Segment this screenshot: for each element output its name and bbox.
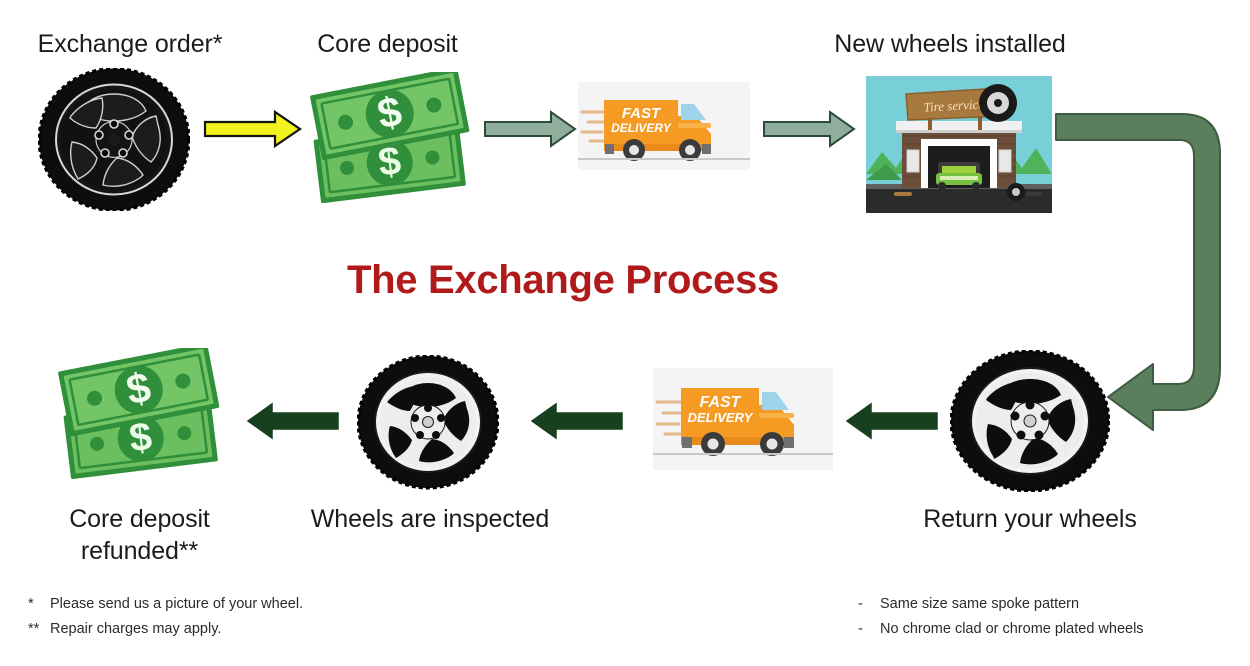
truck-text-delivery: DELIVERY: [611, 121, 672, 135]
label-return-your-wheels: Return your wheels: [880, 503, 1180, 535]
cash-money-icon-refund: $ $: [52, 348, 234, 489]
label-core-deposit-refunded: Core deposit refunded**: [32, 503, 247, 567]
footnote-left-2-mark: **: [28, 617, 50, 642]
label-core-deposit: Core deposit: [285, 28, 490, 60]
svg-text:DELIVERY: DELIVERY: [688, 410, 754, 425]
footnote-left-1: *Please send us a picture of your wheel.: [28, 592, 303, 617]
footnote-left-2-text: Repair charges may apply.: [50, 621, 221, 637]
arrow-deposit-to-truck: [483, 108, 578, 155]
page-title: The Exchange Process: [347, 258, 779, 303]
arrow-order-to-deposit: [203, 108, 303, 155]
footnote-right-1-text: Same size same spoke pattern: [880, 596, 1079, 612]
label-new-wheels-installed: New wheels installed: [800, 28, 1100, 60]
label-refund-line1: Core deposit: [69, 505, 210, 533]
shop-sign-text: Tire service: [923, 96, 984, 114]
footnote-right-1: -Same size same spoke pattern: [858, 592, 1144, 617]
label-refund-line2: refunded**: [81, 537, 198, 565]
footnote-right-2-text: No chrome clad or chrome plated wheels: [880, 621, 1144, 637]
alloy-wheel-icon-order: [38, 68, 190, 211]
fast-delivery-truck-icon-inbound: FAST DELIVERY: [653, 368, 833, 475]
svg-text:FAST: FAST: [700, 394, 742, 411]
footnote-left-1-text: Please send us a picture of your wheel.: [50, 596, 303, 612]
arrow-truck-to-shop: [762, 108, 857, 155]
footnotes-right: -Same size same spoke pattern -No chrome…: [858, 592, 1144, 643]
alloy-wheel-icon-inspected: [357, 355, 499, 490]
footnote-right-1-mark: -: [858, 592, 880, 617]
arrow-return-to-truck: [843, 402, 939, 445]
footnote-left-1-mark: *: [28, 592, 50, 617]
label-exchange-order: Exchange order*: [0, 28, 260, 60]
truck-text-fast: FAST: [622, 105, 662, 122]
cash-money-icon-deposit: $ $: [306, 72, 482, 213]
exchange-process-diagram: Exchange order* Core deposit New wheels …: [0, 0, 1250, 666]
footnotes-left: *Please send us a picture of your wheel.…: [28, 592, 303, 643]
arrow-truck-to-inspect: [528, 402, 624, 445]
alloy-wheel-icon-return: [950, 350, 1110, 492]
footnote-right-2-mark: -: [858, 617, 880, 642]
tire-service-shop-icon: Tire service: [866, 76, 1052, 218]
footnote-right-2: -No chrome clad or chrome plated wheels: [858, 617, 1144, 642]
fast-delivery-truck-icon-outbound: FAST DELIVERY: [578, 82, 750, 175]
footnote-left-2: **Repair charges may apply.: [28, 617, 303, 642]
label-wheels-are-inspected: Wheels are inspected: [290, 503, 570, 535]
arrow-inspect-to-money: [244, 402, 340, 445]
